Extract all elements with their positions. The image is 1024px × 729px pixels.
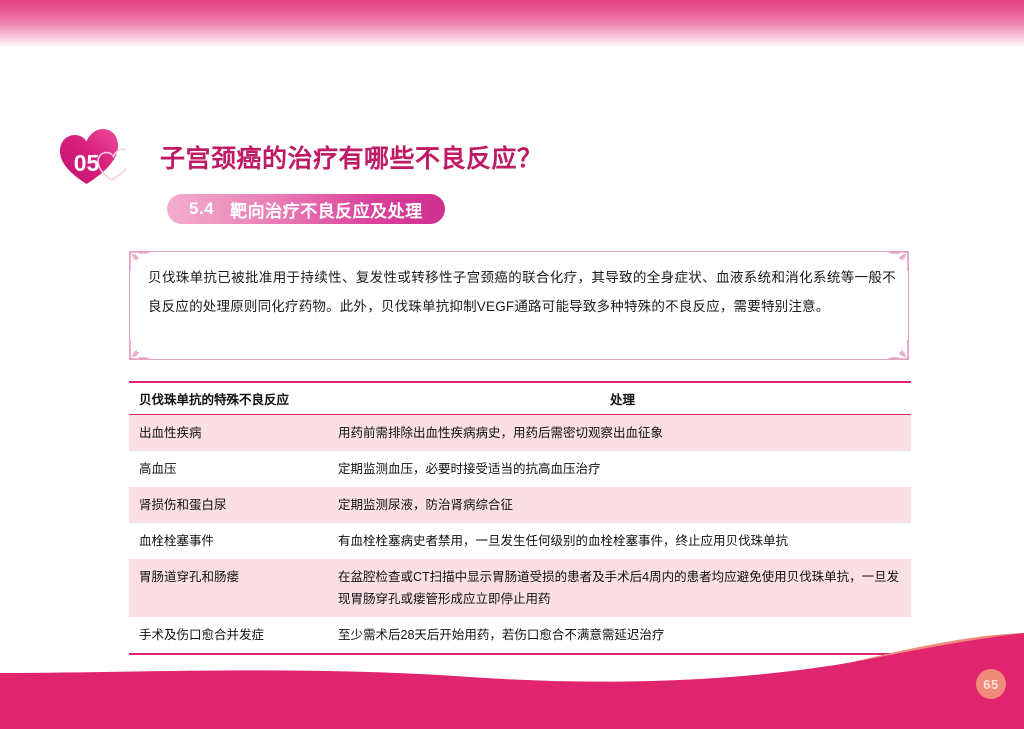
chapter-heading: 05 子宫颈癌的治疗有哪些不良反应？	[58, 126, 543, 188]
magenta-wave	[0, 633, 1024, 729]
note-box: 贝伐珠单抗已被批准用于持续性、复发性或转移性子宫颈癌的联合化疗，其导致的全身症状…	[129, 251, 909, 360]
page-number-badge: 65	[976, 669, 1006, 699]
table-header-row: 贝伐珠单抗的特殊不良反应 处理	[129, 382, 911, 415]
chapter-number: 05	[58, 126, 115, 188]
cell-management: 定期监测血压，必要时接受适当的抗高血压治疗	[334, 451, 911, 487]
note-paragraph: 贝伐珠单抗已被批准用于持续性、复发性或转移性子宫颈癌的联合化疗，其导致的全身症状…	[148, 263, 896, 321]
cell-reaction: 胃肠道穿孔和肠瘘	[129, 559, 334, 617]
page-title: 子宫颈癌的治疗有哪些不良反应？	[160, 139, 543, 175]
chapter-heart-badge: 05	[58, 126, 126, 188]
cell-reaction: 出血性疾病	[129, 415, 334, 452]
table-row: 胃肠道穿孔和肠瘘 在盆腔检查或CT扫描中显示胃肠道受损的患者及手术后4周内的患者…	[129, 559, 911, 617]
cell-reaction: 高血压	[129, 451, 334, 487]
cell-reaction: 血栓栓塞事件	[129, 523, 334, 559]
adverse-reaction-table: 贝伐珠单抗的特殊不良反应 处理 出血性疾病 用药前需排除出血性疾病病史，用药后需…	[129, 381, 911, 655]
cell-management: 在盆腔检查或CT扫描中显示胃肠道受损的患者及手术后4周内的患者均应避免使用贝伐珠…	[334, 559, 911, 617]
bottom-wave-decoration: 65	[0, 619, 1024, 729]
cell-management: 用药前需排除出血性疾病病史，用药后需密切观察出血征象	[334, 415, 911, 452]
page-root: 05 子宫颈癌的治疗有哪些不良反应？ 5.4 靶向治疗不良反应及处理	[0, 0, 1024, 729]
table-row: 出血性疾病 用药前需排除出血性疾病病史，用药后需密切观察出血征象	[129, 415, 911, 452]
section-label: 靶向治疗不良反应及处理	[230, 197, 423, 222]
section-pill: 5.4 靶向治疗不良反应及处理	[167, 194, 445, 224]
table-header: 贝伐珠单抗的特殊不良反应 处理	[129, 382, 911, 415]
column-header-reaction: 贝伐珠单抗的特殊不良反应	[129, 382, 334, 415]
corner-ornament-bottom-right	[887, 338, 909, 360]
cell-reaction: 肾损伤和蛋白尿	[129, 487, 334, 523]
corner-ornament-bottom-left	[129, 338, 151, 360]
table-row: 肾损伤和蛋白尿 定期监测尿液，防治肾病综合征	[129, 487, 911, 523]
section-number: 5.4	[189, 199, 214, 219]
cell-management: 有血栓栓塞病史者禁用，一旦发生任何级别的血栓栓塞事件，终止应用贝伐珠单抗	[334, 523, 911, 559]
table-row: 血栓栓塞事件 有血栓栓塞病史者禁用，一旦发生任何级别的血栓栓塞事件，终止应用贝伐…	[129, 523, 911, 559]
column-header-management: 处理	[334, 382, 911, 415]
table-row: 高血压 定期监测血压，必要时接受适当的抗高血压治疗	[129, 451, 911, 487]
cell-management: 定期监测尿液，防治肾病综合征	[334, 487, 911, 523]
top-gradient-band	[0, 0, 1024, 48]
